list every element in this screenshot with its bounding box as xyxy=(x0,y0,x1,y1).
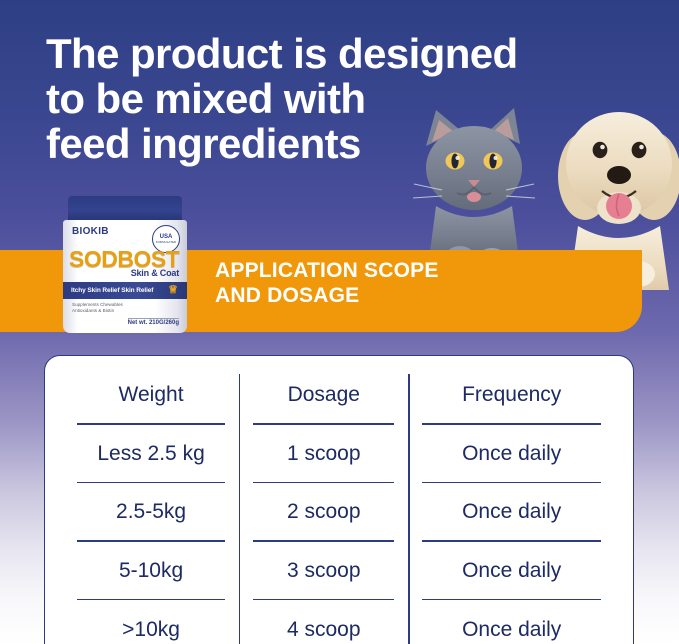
dosage-table-panel: Weight Less 2.5 kg 2.5-5kg 5-10kg >10kg … xyxy=(44,355,634,644)
column-dosage: Dosage 1 scoop 2 scoop 3 scoop 4 scoop xyxy=(239,366,408,644)
paw-mark-icon: ♕ xyxy=(168,285,178,296)
column-header-dosage: Dosage xyxy=(239,366,408,425)
column-weight: Weight Less 2.5 kg 2.5-5kg 5-10kg >10kg xyxy=(63,366,239,644)
banner-title-line-1: APPLICATION SCOPE xyxy=(215,259,545,284)
jar-body: BIOKIB USA FORMULATED SODBOST Skin & Coa… xyxy=(63,220,187,333)
table-cell-frequency-3: Once daily xyxy=(408,542,615,601)
jar-claim-text: Itchy Skin Relief Skin Relief xyxy=(71,287,153,294)
table-cell-frequency-2: Once daily xyxy=(408,483,615,542)
column-frequency: Frequency Once daily Once daily Once dai… xyxy=(408,366,615,644)
banner-title-line-2: AND DOSAGE xyxy=(215,284,545,309)
jar-fine-print: Supplements Chewables Antioxidants & Bio… xyxy=(72,302,123,314)
table-cell-weight-2: 2.5-5kg xyxy=(63,483,239,542)
headline-line-1: The product is designed xyxy=(46,32,606,77)
table-cell-dosage-3: 3 scoop xyxy=(239,542,408,601)
headline-line-3: feed ingredients xyxy=(46,122,606,167)
table-cell-weight-3: 5-10kg xyxy=(63,542,239,601)
jar-claim-strip: Itchy Skin Relief Skin Relief ♕ xyxy=(63,282,187,299)
jar-net-weight: Net wt. 210G/260g xyxy=(128,318,179,326)
jar-fine-line-2: Antioxidants & Biotin xyxy=(72,308,123,314)
dosage-table: Weight Less 2.5 kg 2.5-5kg 5-10kg >10kg … xyxy=(45,356,633,644)
table-cell-weight-1: Less 2.5 kg xyxy=(63,425,239,484)
headline-line-2: to be mixed with xyxy=(46,77,606,122)
usa-badge-sublabel: FORMULATED xyxy=(156,241,176,244)
table-cell-dosage-4: 4 scoop xyxy=(239,600,408,644)
table-cell-frequency-4: Once daily xyxy=(408,600,615,644)
brand-logo: BIOKIB xyxy=(72,226,109,237)
product-poster: The product is designed to be mixed with… xyxy=(0,0,679,644)
headline: The product is designed to be mixed with… xyxy=(46,32,606,167)
table-cell-dosage-2: 2 scoop xyxy=(239,483,408,542)
table-cell-weight-4: >10kg xyxy=(63,600,239,644)
product-jar: BIOKIB USA FORMULATED SODBOST Skin & Coa… xyxy=(63,196,187,333)
table-cell-dosage-1: 1 scoop xyxy=(239,425,408,484)
banner-title: APPLICATION SCOPE AND DOSAGE xyxy=(215,259,545,308)
product-subtitle: Skin & Coat xyxy=(131,268,179,278)
column-header-weight: Weight xyxy=(63,366,239,425)
column-header-frequency: Frequency xyxy=(408,366,615,425)
jar-lid xyxy=(68,196,182,222)
table-cell-frequency-1: Once daily xyxy=(408,425,615,484)
